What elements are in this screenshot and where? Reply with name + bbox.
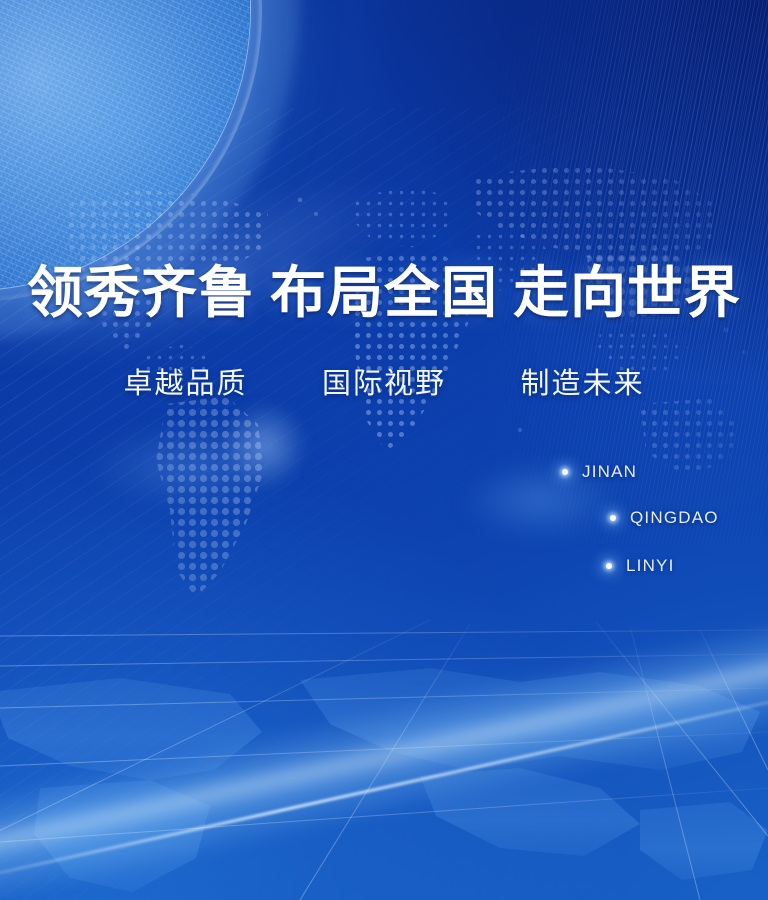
banner-content: 领秀齐鲁 布局全国 走向世界 卓越品质 国际视野 制造未来 JINAN QING… bbox=[0, 0, 768, 900]
subline-part-2: 国际视野 bbox=[322, 368, 446, 400]
banner-subline: 卓越品质 国际视野 制造未来 bbox=[0, 370, 768, 399]
city-label-jinan: JINAN bbox=[582, 462, 637, 482]
hero-banner: 领秀齐鲁 布局全国 走向世界 卓越品质 国际视野 制造未来 JINAN QING… bbox=[0, 0, 768, 900]
subline-part-1: 卓越品质 bbox=[123, 368, 247, 400]
city-marker-linyi[interactable]: LINYI bbox=[606, 556, 675, 576]
city-label-linyi: LINYI bbox=[626, 556, 675, 576]
subline-part-3: 制造未来 bbox=[521, 368, 645, 400]
city-label-qingdao: QINGDAO bbox=[630, 508, 719, 528]
map-pin-dot-icon bbox=[562, 469, 568, 475]
city-marker-jinan[interactable]: JINAN bbox=[562, 462, 637, 482]
map-pin-dot-icon bbox=[610, 515, 616, 521]
city-marker-qingdao[interactable]: QINGDAO bbox=[610, 508, 719, 528]
map-pin-dot-icon bbox=[606, 563, 612, 569]
banner-headline: 领秀齐鲁 布局全国 走向世界 bbox=[0, 266, 768, 322]
